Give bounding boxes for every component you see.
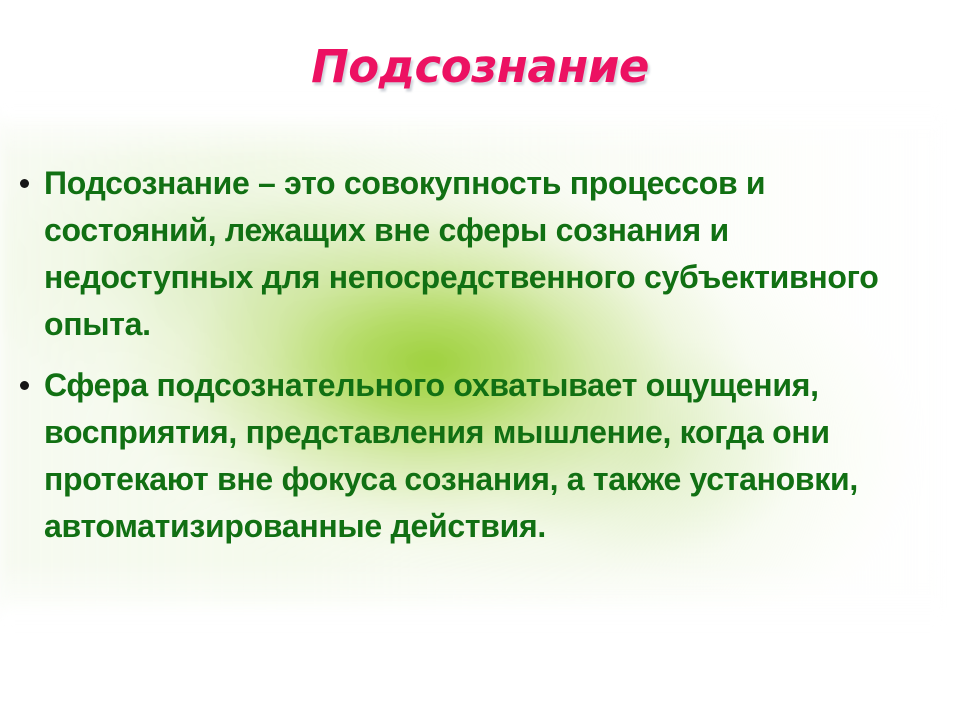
bullet-dot-icon: [20, 179, 29, 188]
bullet-text: Подсознание – это совокупность процессов…: [44, 160, 914, 348]
gradient-fade-bottom: [0, 560, 945, 630]
slide-canvas: Подсознание Подсознание – это совокупнос…: [0, 0, 960, 720]
list-item: Сфера подсознательного охватывает ощущен…: [8, 362, 938, 550]
bullet-text: Сфера подсознательного охватывает ощущен…: [44, 362, 924, 550]
bullet-dot-icon: [20, 381, 29, 390]
list-item: Подсознание – это совокупность процессов…: [8, 160, 938, 348]
bullet-list: Подсознание – это совокупность процессов…: [8, 160, 938, 564]
slide-title: Подсознание: [0, 40, 960, 93]
gradient-fade-top: [0, 100, 945, 160]
